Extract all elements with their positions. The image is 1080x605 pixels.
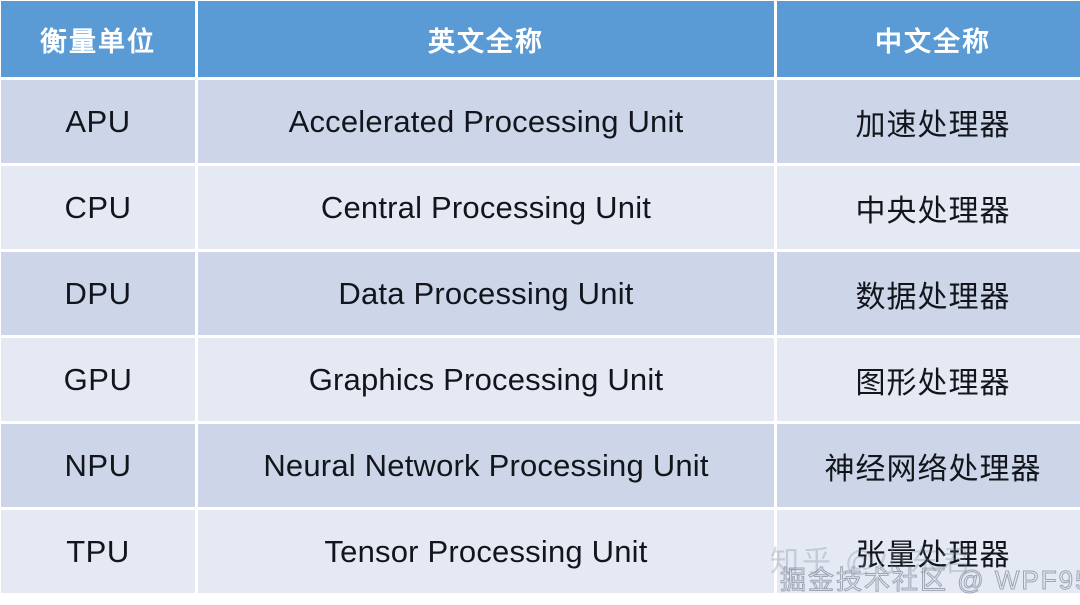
cell-unit: APU bbox=[1, 80, 195, 163]
cell-chinese: 加速处理器 bbox=[777, 80, 1080, 163]
cell-chinese: 神经网络处理器 bbox=[777, 424, 1080, 507]
cell-english: Data Processing Unit bbox=[198, 252, 774, 335]
cell-english: Accelerated Processing Unit bbox=[198, 80, 774, 163]
table-row: APU Accelerated Processing Unit 加速处理器 bbox=[1, 80, 1080, 163]
header-chinese-full-name: 中文全称 bbox=[777, 1, 1080, 77]
table-row: TPU Tensor Processing Unit 张量处理器 bbox=[1, 510, 1080, 593]
table-row: DPU Data Processing Unit 数据处理器 bbox=[1, 252, 1080, 335]
cell-english: Central Processing Unit bbox=[198, 166, 774, 249]
cell-english: Neural Network Processing Unit bbox=[198, 424, 774, 507]
table-row: GPU Graphics Processing Unit 图形处理器 bbox=[1, 338, 1080, 421]
cell-unit: CPU bbox=[1, 166, 195, 249]
cell-english: Tensor Processing Unit bbox=[198, 510, 774, 593]
spec-table-container: 衡量单位 英文全称 中文全称 APU Accelerated Processin… bbox=[0, 0, 1080, 605]
header-unit: 衡量单位 bbox=[1, 1, 195, 77]
table-body: APU Accelerated Processing Unit 加速处理器 CP… bbox=[1, 80, 1080, 593]
cell-chinese: 图形处理器 bbox=[777, 338, 1080, 421]
header-english-full-name: 英文全称 bbox=[198, 1, 774, 77]
processor-units-table: 衡量单位 英文全称 中文全称 APU Accelerated Processin… bbox=[0, 0, 1080, 596]
table-row: CPU Central Processing Unit 中央处理器 bbox=[1, 166, 1080, 249]
table-header: 衡量单位 英文全称 中文全称 bbox=[1, 1, 1080, 77]
cell-unit: GPU bbox=[1, 338, 195, 421]
cell-chinese: 中央处理器 bbox=[777, 166, 1080, 249]
cell-chinese: 张量处理器 bbox=[777, 510, 1080, 593]
cell-english: Graphics Processing Unit bbox=[198, 338, 774, 421]
cell-unit: DPU bbox=[1, 252, 195, 335]
cell-unit: NPU bbox=[1, 424, 195, 507]
cell-chinese: 数据处理器 bbox=[777, 252, 1080, 335]
cell-unit: TPU bbox=[1, 510, 195, 593]
table-header-row: 衡量单位 英文全称 中文全称 bbox=[1, 1, 1080, 77]
table-row: NPU Neural Network Processing Unit 神经网络处… bbox=[1, 424, 1080, 507]
